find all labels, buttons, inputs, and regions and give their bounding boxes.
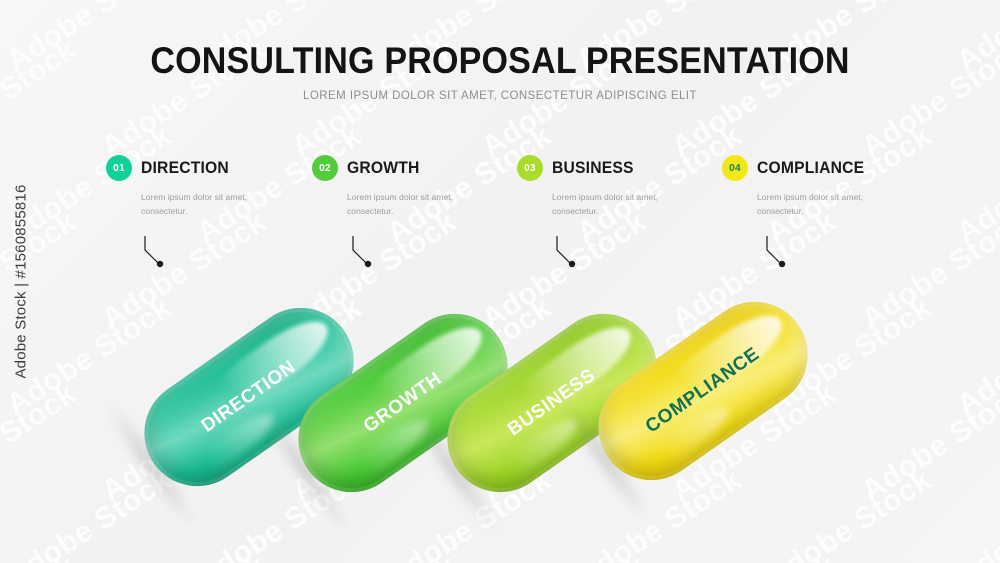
step-title: Compliance: [757, 159, 864, 178]
step-item-growth[interactable]: 02GrowthLorem ipsum dolor sit amet, cons…: [312, 155, 527, 218]
step-legend-group: 01DirectionLorem ipsum dolor sit amet, c…: [0, 155, 1000, 275]
step-title: Business: [552, 159, 634, 178]
page-title: Consulting Proposal Presentation: [40, 41, 960, 82]
step-header: 02Growth: [312, 155, 527, 181]
stock-credit-label: Adobe Stock | #1560855816: [13, 184, 30, 378]
step-title: Growth: [347, 159, 420, 178]
slide-canvas: Adobe StockAdobe StockAdobe StockAdobe S…: [0, 0, 1000, 563]
step-description: Lorem ipsum dolor sit amet, consectetur.: [552, 190, 702, 218]
step-item-business[interactable]: 03BusinessLorem ipsum dolor sit amet, co…: [517, 155, 732, 218]
step-number-badge[interactable]: 04: [722, 155, 748, 181]
step-header: 03Business: [517, 155, 732, 181]
step-number-badge[interactable]: 02: [312, 155, 338, 181]
stock-credit: Adobe Stock | #1560855816: [4, 0, 38, 563]
step-title: Direction: [141, 159, 229, 178]
page-subtitle: Lorem ipsum dolor sit amet, consectetur …: [0, 90, 1000, 102]
slide-header: Consulting Proposal Presentation Lorem i…: [0, 41, 1000, 102]
step-description: Lorem ipsum dolor sit amet, consectetur.: [757, 190, 907, 218]
step-number-badge[interactable]: 03: [517, 155, 543, 181]
step-header: 04Compliance: [722, 155, 937, 181]
step-item-compliance[interactable]: 04ComplianceLorem ipsum dolor sit amet, …: [722, 155, 937, 218]
step-header: 01Direction: [106, 155, 321, 181]
step-item-direction[interactable]: 01DirectionLorem ipsum dolor sit amet, c…: [106, 155, 321, 218]
step-number-badge[interactable]: 01: [106, 155, 132, 181]
step-description: Lorem ipsum dolor sit amet, consectetur.: [347, 190, 497, 218]
step-description: Lorem ipsum dolor sit amet, consectetur.: [141, 190, 291, 218]
